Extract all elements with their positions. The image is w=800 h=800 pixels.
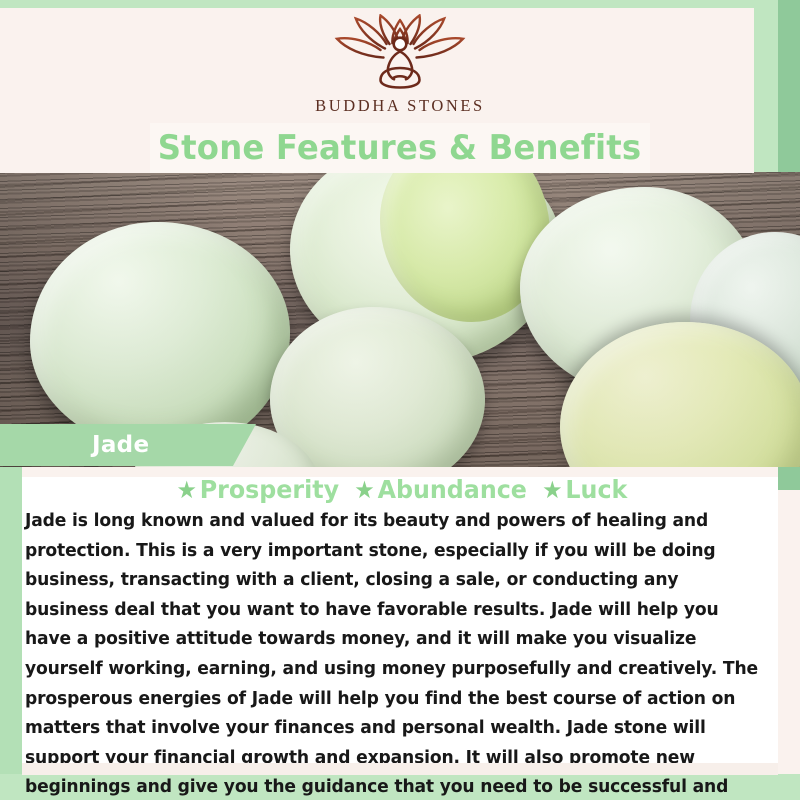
stone-shape [30, 222, 290, 452]
content-bottom-tint [22, 763, 778, 775]
jade-stones-photo [0, 172, 800, 467]
brand-logo: BUDDHA STONES [0, 14, 800, 116]
star-icon: ★ [542, 476, 562, 504]
benefit-label-abundance: Abundance [378, 475, 527, 504]
star-icon: ★ [176, 476, 196, 504]
stone-name-label: Jade [92, 432, 149, 458]
stone-name-badge: Jade [0, 424, 256, 466]
stone-description: Jade is long known and valued for its be… [25, 507, 764, 800]
star-icon: ★ [354, 476, 374, 504]
stone-info-card: BUDDHA STONES Stone Features & Benefits … [0, 0, 800, 800]
title-banner: Stone Features & Benefits [150, 123, 650, 173]
brand-name: BUDDHA STONES [315, 96, 485, 116]
benefit-label-prosperity: Prosperity [200, 475, 339, 504]
benefit-label-luck: Luck [565, 475, 627, 504]
benefits-row: ★Prosperity★Abundance★Luck [41, 475, 759, 504]
lotus-meditation-icon [325, 14, 475, 92]
page-title: Stone Features & Benefits [158, 128, 642, 168]
content-panel: ★Prosperity★Abundance★Luck Jade is long … [22, 467, 778, 775]
